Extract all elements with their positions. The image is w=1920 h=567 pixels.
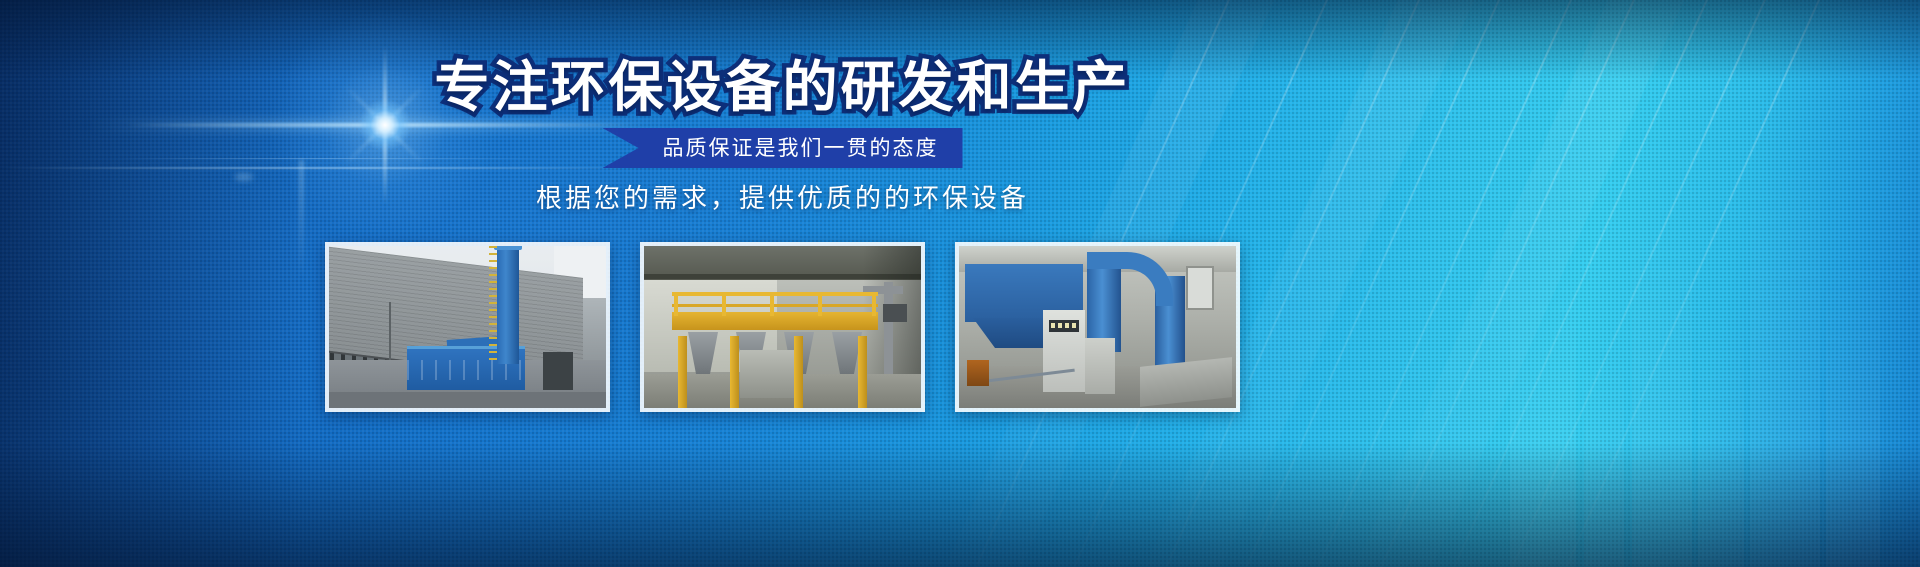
- photo-image-blue-ducting: 蓝色旋风除尘管道与控制柜车间现场: [959, 246, 1236, 408]
- photo-thumbnail[interactable]: 灰色厂房外墙与蓝色除尘设备及排气筒: [325, 242, 610, 412]
- slogan-ribbon-text: 品质保证是我们一贯的态度: [663, 138, 939, 159]
- photo-image-yellow-platform: 黄色栏杆平台与多个锥形料仓的车间设备: [644, 246, 921, 408]
- photo-thumbnail[interactable]: 蓝色旋风除尘管道与控制柜车间现场: [955, 242, 1240, 412]
- slogan-ribbon: 品质保证是我们一贯的态度: [603, 128, 963, 168]
- photo-image-factory-exterior: 灰色厂房外墙与蓝色除尘设备及排气筒: [329, 246, 606, 408]
- tagline: 根据您的需求，提供优质的的环保设备: [0, 178, 1565, 215]
- banner-content: 专注环保设备的研发和生产 品质保证是我们一贯的态度 根据您的需求，提供优质的的环…: [0, 0, 1920, 567]
- promo-banner: 专注环保设备的研发和生产 品质保证是我们一贯的态度 根据您的需求，提供优质的的环…: [0, 0, 1920, 567]
- page-title: 专注环保设备的研发和生产: [0, 58, 1565, 117]
- photo-gallery: 灰色厂房外墙与蓝色除尘设备及排气筒: [0, 242, 1565, 412]
- photo-thumbnail[interactable]: 黄色栏杆平台与多个锥形料仓的车间设备: [640, 242, 925, 412]
- ribbon-container: 品质保证是我们一贯的态度: [0, 128, 1565, 168]
